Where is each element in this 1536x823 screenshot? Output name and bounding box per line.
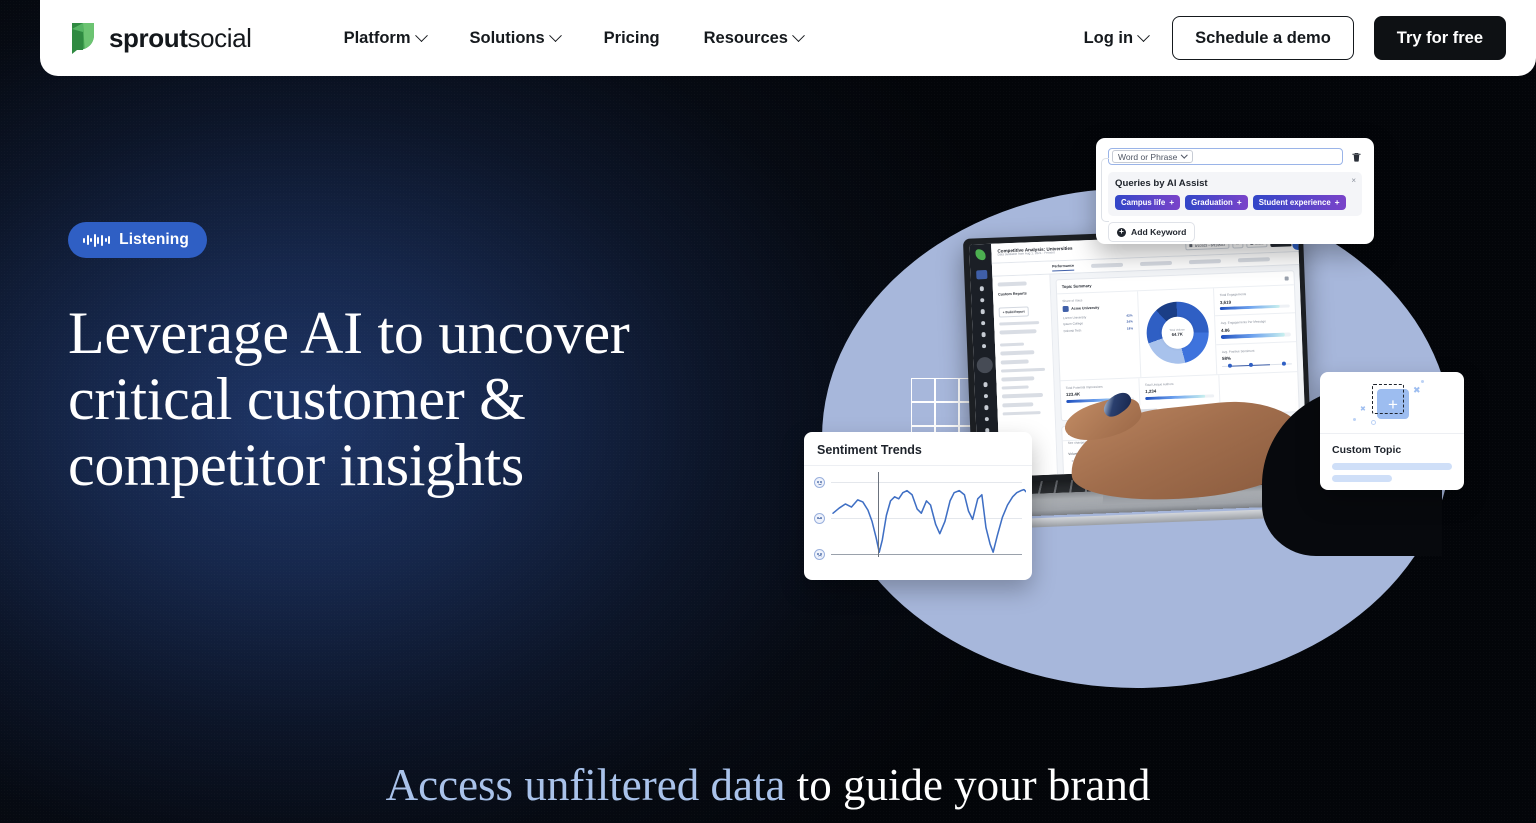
donut-chart: Total Volume 64.7K bbox=[1145, 300, 1209, 364]
login-menu[interactable]: Log in bbox=[1080, 21, 1152, 56]
schedule-demo-button[interactable]: Schedule a demo bbox=[1172, 16, 1354, 61]
brand-name: Acme University bbox=[1071, 305, 1099, 310]
divider bbox=[1215, 313, 1295, 317]
placeholder-bar bbox=[1332, 475, 1392, 482]
page-title: Leverage AI to uncover critical customer… bbox=[68, 300, 788, 498]
dot-decoration bbox=[1353, 418, 1356, 421]
selection-marquee-icon bbox=[1372, 384, 1404, 414]
build-report-button[interactable]: + Build Report bbox=[999, 306, 1029, 317]
dot-decoration bbox=[1421, 380, 1424, 383]
close-icon[interactable]: × bbox=[1351, 177, 1356, 185]
chevron-down-icon bbox=[1181, 152, 1187, 158]
rank-name: Ipsum College bbox=[1063, 321, 1083, 326]
sparkle-icon: ✖ bbox=[1360, 406, 1366, 413]
metric-bar bbox=[1220, 304, 1290, 310]
metric-label: Avg. Engagements Per Message bbox=[1221, 319, 1291, 326]
nav-placeholder bbox=[1000, 342, 1025, 347]
metric-bar bbox=[1221, 333, 1291, 339]
logo-light: social bbox=[187, 23, 251, 53]
rail-analytics-icon[interactable] bbox=[976, 357, 993, 374]
logo-bold: sprout bbox=[109, 23, 187, 53]
brand-row: Acme University bbox=[1063, 303, 1133, 312]
keyword-tag-label: Campus life bbox=[1121, 198, 1165, 207]
sad-face-icon bbox=[814, 549, 825, 560]
rail-icon[interactable] bbox=[983, 382, 988, 387]
donut-value: 64.7K bbox=[1172, 331, 1183, 336]
keyword-tag[interactable]: Student experience + bbox=[1253, 195, 1346, 210]
subtitle-highlight: Access unfiltered data bbox=[386, 760, 786, 810]
happy-face-icon bbox=[814, 477, 825, 488]
share-of-voice-label: Share of Voice bbox=[1062, 296, 1132, 303]
section-subtitle: Access unfiltered data to guide your bra… bbox=[0, 760, 1536, 812]
custom-reports-heading: Custom Reports bbox=[998, 290, 1045, 296]
word-or-phrase-label: Word or Phrase bbox=[1118, 152, 1177, 162]
panel-menu-icon[interactable] bbox=[1285, 276, 1289, 280]
hand-holding-laptop bbox=[1030, 396, 1330, 526]
try-for-free-button[interactable]: Try for free bbox=[1374, 16, 1506, 61]
add-keyword-label: Add Keyword bbox=[1131, 227, 1186, 237]
rail-icon[interactable] bbox=[982, 344, 987, 349]
brand-icon bbox=[1063, 305, 1069, 311]
query-input-row: Word or Phrase bbox=[1108, 148, 1362, 165]
nav-placeholder bbox=[1002, 385, 1029, 390]
plus-icon: + bbox=[1335, 198, 1340, 207]
custom-topic-art: + ✖ ✖ bbox=[1320, 372, 1464, 434]
sentiment-trends-card: Sentiment Trends bbox=[804, 432, 1032, 580]
chevron-down-icon bbox=[792, 29, 805, 42]
nav-placeholder bbox=[1001, 367, 1045, 372]
rail-icon[interactable] bbox=[985, 417, 990, 422]
rank-row: Dolorsit Tech 18% bbox=[1063, 326, 1133, 333]
nav-label: Solutions bbox=[470, 29, 545, 48]
rail-icon[interactable] bbox=[984, 405, 989, 410]
rail-icon[interactable] bbox=[980, 298, 985, 303]
neutral-face-icon bbox=[814, 513, 825, 524]
queries-card: Word or Phrase × Queries by AI Assist Ca… bbox=[1096, 138, 1374, 244]
keyword-tag[interactable]: Graduation + bbox=[1185, 195, 1248, 210]
sentiment-chart bbox=[804, 465, 1032, 565]
sentiment-slider[interactable] bbox=[1222, 361, 1292, 369]
metric-label: Total Potential Impressions bbox=[1066, 383, 1134, 390]
nav-placeholder bbox=[999, 329, 1036, 334]
subtitle-rest: to guide your brand bbox=[785, 760, 1150, 810]
plus-icon: + bbox=[1237, 198, 1242, 207]
metric-label: Total Engagements bbox=[1220, 290, 1290, 297]
trash-icon[interactable] bbox=[1351, 151, 1362, 163]
login-label: Log in bbox=[1084, 29, 1133, 48]
sparkle-icon: ✖ bbox=[1413, 386, 1421, 395]
divider bbox=[1217, 341, 1297, 345]
rank-row: Lorem University 42% bbox=[1063, 313, 1133, 320]
nav-placeholder bbox=[1002, 402, 1033, 407]
rail-icon[interactable] bbox=[981, 332, 986, 337]
nav-placeholder bbox=[998, 281, 1027, 286]
tab-placeholder[interactable] bbox=[1140, 261, 1172, 266]
logo[interactable]: sproutsocial bbox=[68, 21, 252, 55]
nav-placeholder bbox=[1000, 351, 1034, 356]
rank-value: 24% bbox=[1127, 319, 1133, 323]
tab-performance[interactable]: Performance bbox=[1052, 263, 1074, 271]
rank-name: Lorem University bbox=[1063, 315, 1086, 320]
topic-summary-title: Topic Summary bbox=[1062, 283, 1092, 289]
nav-label: Platform bbox=[344, 29, 411, 48]
rank-value: 18% bbox=[1127, 326, 1133, 330]
nav-item-solutions[interactable]: Solutions bbox=[448, 21, 582, 56]
volume-donut-column: Total Volume 64.7K bbox=[1138, 288, 1217, 377]
sprout-leaf-icon bbox=[975, 249, 985, 260]
plus-circle-icon: + bbox=[1117, 228, 1126, 237]
metric-label: Avg. Positive Sentiment bbox=[1222, 347, 1292, 354]
nav-label: Resources bbox=[704, 29, 788, 48]
nav-item-pricing[interactable]: Pricing bbox=[582, 21, 682, 56]
plus-icon: + bbox=[1169, 198, 1174, 207]
keyword-tag-label: Student experience bbox=[1259, 198, 1331, 207]
calendar-icon bbox=[1190, 244, 1193, 247]
chevron-down-icon bbox=[415, 29, 428, 42]
metric-label: Total Unique Authors bbox=[1145, 380, 1213, 387]
nav-item-platform[interactable]: Platform bbox=[322, 21, 448, 56]
query-input[interactable]: Word or Phrase bbox=[1108, 148, 1343, 165]
rail-icon[interactable] bbox=[979, 286, 984, 291]
listening-label: Listening bbox=[119, 231, 189, 249]
dashboard-subtitle: Data available from Aug 1, 2021 - Presen… bbox=[998, 251, 1073, 257]
audio-waveform-icon bbox=[83, 233, 110, 247]
sentiment-line bbox=[831, 466, 1026, 569]
chevron-down-icon bbox=[1137, 29, 1150, 42]
keyword-tag-label: Graduation bbox=[1191, 198, 1233, 207]
placeholder-bar bbox=[1332, 463, 1452, 470]
rail-active-icon[interactable] bbox=[976, 270, 987, 279]
rank-row: Ipsum College 24% bbox=[1063, 319, 1133, 326]
tab-placeholder[interactable] bbox=[1189, 259, 1221, 264]
rail-icon[interactable] bbox=[984, 394, 989, 399]
rail-icon[interactable] bbox=[981, 321, 986, 326]
sentiment-title: Sentiment Trends bbox=[804, 432, 1032, 465]
word-or-phrase-select[interactable]: Word or Phrase bbox=[1112, 150, 1193, 163]
ai-assist-panel: × Queries by AI Assist Campus life + Gra… bbox=[1108, 172, 1362, 216]
custom-topic-label: Custom Topic bbox=[1320, 434, 1464, 463]
metric-value: 1,234 bbox=[1145, 387, 1213, 395]
keyword-tag[interactable]: Campus life + bbox=[1115, 195, 1180, 210]
ai-assist-tags: Campus life + Graduation + Student exper… bbox=[1115, 195, 1355, 210]
tab-placeholder[interactable] bbox=[1091, 263, 1123, 268]
ring-decoration bbox=[1371, 420, 1376, 425]
listening-badge[interactable]: Listening bbox=[68, 222, 207, 258]
chart-cursor bbox=[878, 472, 879, 557]
share-of-voice-column: Share of Voice Acme University Lorem Uni… bbox=[1057, 291, 1141, 380]
primary-nav: Platform Solutions Pricing Resources bbox=[322, 21, 825, 56]
custom-topic-card: + ✖ ✖ Custom Topic bbox=[1320, 372, 1464, 490]
site-header: sproutsocial Platform Solutions Pricing … bbox=[40, 0, 1536, 76]
nav-placeholder bbox=[1001, 376, 1034, 381]
header-actions: Log in Schedule a demo Try for free bbox=[1080, 16, 1506, 61]
metric-value: 3,619 bbox=[1220, 297, 1290, 305]
nav-item-resources[interactable]: Resources bbox=[682, 21, 825, 56]
nav-placeholder bbox=[999, 321, 1040, 326]
add-keyword-button[interactable]: + Add Keyword bbox=[1108, 222, 1195, 242]
rank-name: Dolorsit Tech bbox=[1063, 328, 1081, 333]
ai-assist-title: Queries by AI Assist bbox=[1115, 178, 1355, 189]
summary-row: Share of Voice Acme University Lorem Uni… bbox=[1057, 285, 1297, 380]
nav-placeholder bbox=[1001, 359, 1029, 364]
nav-label: Pricing bbox=[604, 29, 660, 48]
leaf-icon bbox=[68, 21, 98, 55]
donut-center: Total Volume 64.7K bbox=[1161, 316, 1194, 349]
right-metrics-column: Total Engagements 3,619 Avg. Engagements… bbox=[1213, 285, 1297, 374]
hero-page: Competitive Analysis: Universities Data … bbox=[0, 0, 1536, 823]
logo-text: sproutsocial bbox=[109, 23, 252, 54]
rail-icon[interactable] bbox=[980, 309, 985, 314]
rank-value: 42% bbox=[1126, 313, 1132, 317]
metric-value: 58% bbox=[1222, 354, 1292, 362]
chevron-down-icon bbox=[549, 29, 562, 42]
metric-value: 4.86 bbox=[1221, 325, 1291, 333]
tab-placeholder[interactable] bbox=[1238, 257, 1270, 262]
